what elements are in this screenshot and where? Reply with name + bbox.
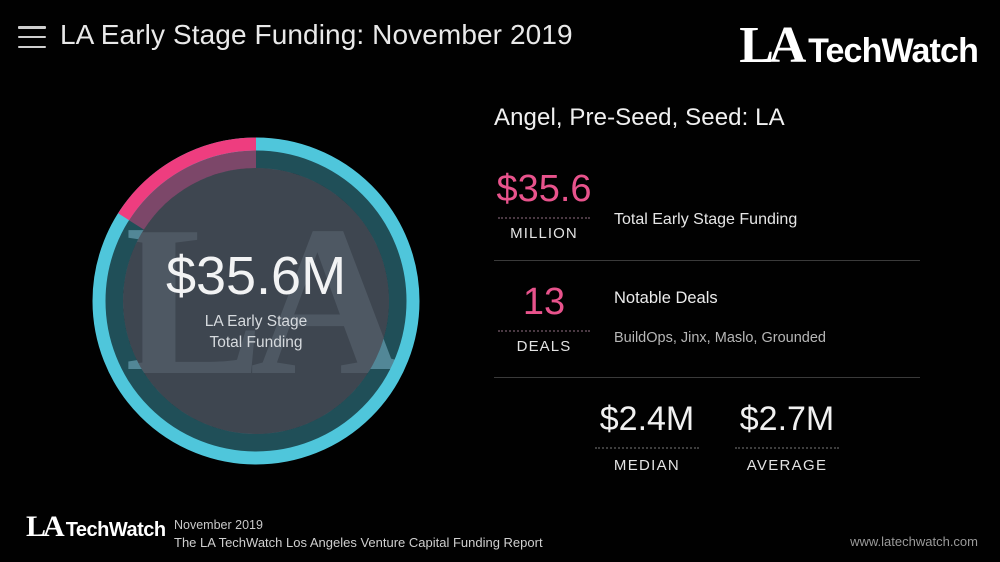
donut-chart: LA LA $35.6M LA Early Stage Tota: [92, 137, 420, 465]
total-funding-unit: MILLION: [510, 225, 578, 242]
median-metric: $2.4M MEDIAN: [595, 402, 699, 474]
footer-report-title: The LA TechWatch Los Angeles Venture Cap…: [174, 534, 543, 553]
median-value: $2.4M: [600, 402, 695, 436]
brand-logo-header: LA TechWatch: [739, 16, 978, 75]
deals-count-metric: 13 DEALS: [498, 283, 590, 355]
median-average-row: $2.4M MEDIAN $2.7M AVERAGE: [494, 402, 920, 474]
total-funding-metric: $35.6 MILLION: [498, 170, 590, 242]
divider-line-top: [494, 260, 920, 261]
hamburger-menu-icon[interactable]: [18, 26, 46, 48]
total-funding-label: Total Early Stage Funding: [614, 211, 797, 229]
notable-deals-row: 13 DEALS Notable Deals BuildOps, Jinx, M…: [494, 283, 920, 355]
deals-count-value: 13: [523, 283, 565, 321]
average-value: $2.7M: [740, 402, 835, 436]
dotted-separator: [498, 330, 590, 332]
deals-text-block: Notable Deals BuildOps, Jinx, Maslo, Gro…: [614, 289, 826, 346]
hamburger-line: [18, 46, 46, 49]
panel-heading: Angel, Pre-Seed, Seed: LA: [494, 104, 920, 132]
footer-bar: LA TechWatch November 2019 The LA TechWa…: [0, 496, 1000, 562]
donut-chart-svg: LA LA: [92, 137, 420, 465]
notable-deals-title: Notable Deals: [614, 289, 826, 308]
logo-techwatch-text: TechWatch: [808, 32, 978, 71]
stats-panel: Angel, Pre-Seed, Seed: LA $35.6 MILLION …: [494, 104, 920, 474]
total-funding-value: $35.6: [496, 170, 591, 208]
dotted-separator: [498, 217, 590, 219]
average-unit: AVERAGE: [747, 457, 828, 474]
average-metric: $2.7M AVERAGE: [735, 402, 839, 474]
logo-la-text: LA: [26, 510, 62, 544]
footer-website-url[interactable]: www.latechwatch.com: [850, 534, 978, 549]
notable-deals-list: BuildOps, Jinx, Maslo, Grounded: [614, 330, 826, 346]
median-unit: MEDIAN: [614, 457, 680, 474]
footer-text-block: November 2019 The LA TechWatch Los Angel…: [174, 516, 543, 553]
infographic-slide: LA Early Stage Funding: November 2019 LA…: [0, 0, 1000, 562]
footer-date: November 2019: [174, 516, 543, 534]
hamburger-line: [18, 26, 46, 29]
dotted-separator: [595, 447, 699, 449]
hamburger-line: [18, 36, 46, 39]
dotted-separator: [735, 447, 839, 449]
brand-logo-footer: LA TechWatch: [26, 510, 166, 544]
page-title: LA Early Stage Funding: November 2019: [60, 19, 573, 51]
logo-techwatch-text: TechWatch: [66, 519, 166, 542]
header-bar: LA Early Stage Funding: November 2019 LA…: [0, 0, 1000, 86]
total-funding-row: $35.6 MILLION Total Early Stage Funding: [494, 170, 920, 242]
logo-la-text: LA: [739, 16, 801, 75]
deals-count-unit: DEALS: [517, 338, 572, 355]
divider-line-bottom: [494, 377, 920, 378]
